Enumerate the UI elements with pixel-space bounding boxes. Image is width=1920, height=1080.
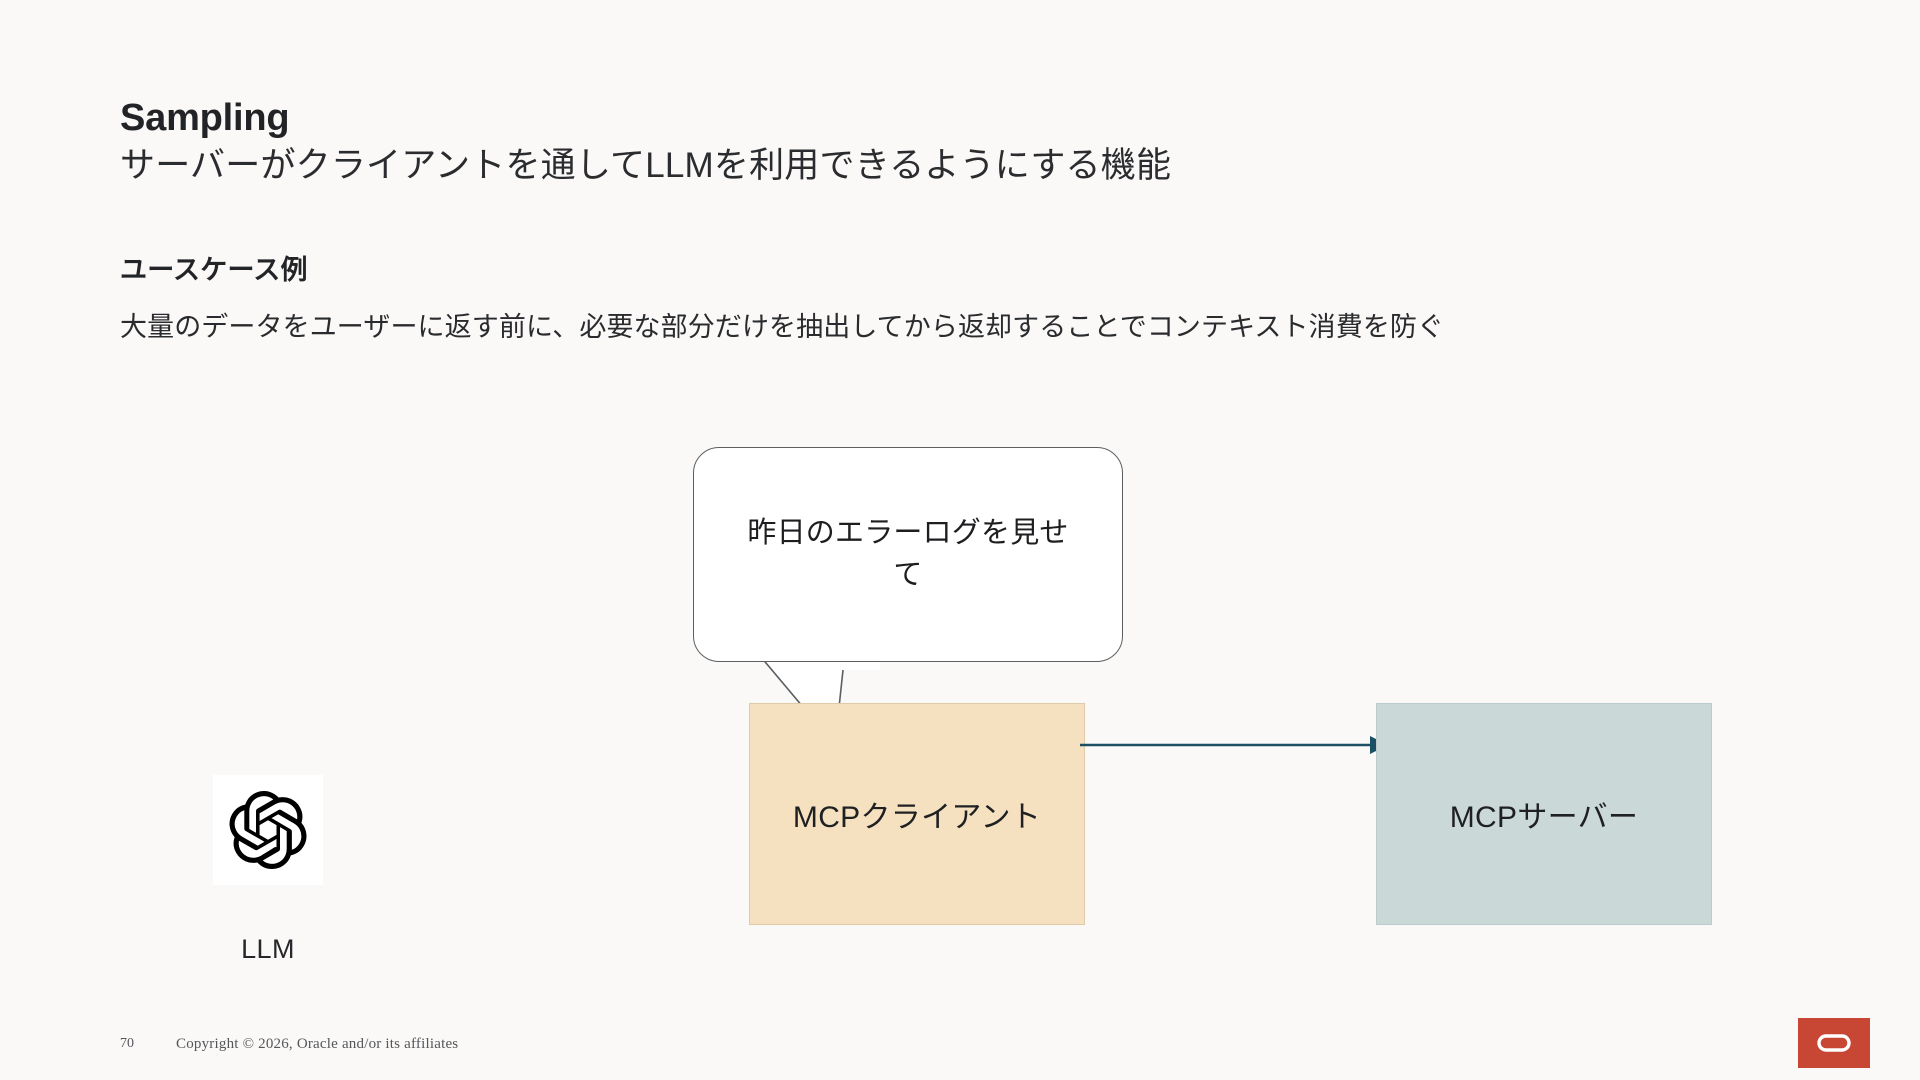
usecase-section: ユースケース例 大量のデータをユーザーに返す前に、必要な部分だけを抽出してから返… (120, 248, 1820, 344)
node-mcp-client-label: MCPクライアント (793, 792, 1041, 836)
page-subtitle: サーバーがクライアントを通してLLMを利用できるようにする機能 (120, 145, 1800, 188)
slide-canvas: Sampling サーバーがクライアントを通してLLMを利用できるようにする機能… (0, 0, 1920, 1080)
speech-bubble-text: 昨日のエラーログを見せて (743, 513, 1073, 595)
llm-logo-tile (213, 775, 323, 885)
node-mcp-server-label: MCPサーバー (1450, 792, 1638, 836)
node-mcp-client[interactable]: MCPクライアント (749, 703, 1085, 925)
footer-page-number: 70 (120, 1036, 134, 1052)
oracle-logo-mark-icon (1816, 1033, 1852, 1053)
node-mcp-server[interactable]: MCPサーバー (1376, 703, 1712, 925)
usecase-heading: ユースケース例 (120, 248, 1820, 287)
openai-logo-icon (229, 791, 307, 869)
footer-copyright: Copyright © 2026, Oracle and/or its affi… (176, 1036, 458, 1053)
oracle-logo-icon (1798, 1018, 1870, 1068)
page-title: Sampling (120, 96, 1800, 141)
speech-bubble: 昨日のエラーログを見せて (693, 447, 1123, 662)
llm-label: LLM (153, 934, 383, 965)
arrow-client-to-server-icon (1080, 715, 1390, 775)
slide-header: Sampling サーバーがクライアントを通してLLMを利用できるようにする機能 (120, 96, 1800, 188)
usecase-description: 大量のデータをユーザーに返す前に、必要な部分だけを抽出してから返却することでコン… (120, 305, 1820, 344)
